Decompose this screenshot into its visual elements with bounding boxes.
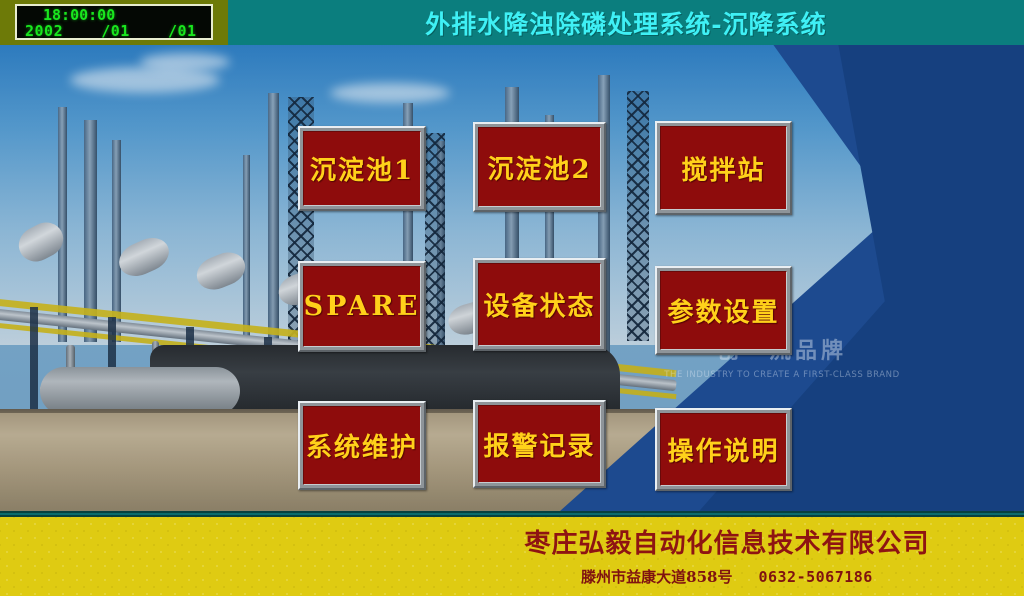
button-operating-manual[interactable]: 操作说明 — [655, 408, 792, 491]
button-face: 系统维护 — [303, 406, 421, 485]
plant-tower — [268, 93, 279, 348]
button-label: 沉淀池2 — [487, 149, 591, 186]
company-address: 滕州市益康大道858号 — [581, 566, 732, 587]
button-sedimentation-tank-1[interactable]: 沉淀池1 — [298, 126, 426, 211]
button-alarm-records[interactable]: 报警记录 — [473, 400, 606, 488]
button-face: SPARE — [303, 266, 421, 347]
button-label: 设备状态 — [483, 286, 595, 323]
button-label: SPARE — [304, 291, 421, 322]
rack-column — [30, 307, 38, 417]
footer-content: 枣庄弘毅自动化信息技术有限公司 滕州市益康大道858号 0632-5067186 — [430, 523, 1024, 587]
button-sedimentation-tank-2[interactable]: 沉淀池2 — [473, 122, 606, 212]
button-system-maintenance[interactable]: 系统维护 — [298, 401, 426, 490]
clock-panel: 18:00:00 2002 /01 /01 — [0, 0, 228, 45]
button-label: 报警记录 — [483, 426, 595, 463]
button-face: 报警记录 — [478, 405, 601, 483]
button-label: 系统维护 — [306, 427, 418, 464]
header-bar: 外排水降浊除磷处理系统-沉降系统 18:00:00 2002 /01 /01 — [0, 0, 1024, 45]
main-stage: 创一流品牌 THE INDUSTRY TO CREATE A FIRST-CLA… — [0, 45, 1024, 511]
button-equipment-status[interactable]: 设备状态 — [473, 258, 606, 351]
clock-time: 18:00:00 — [17, 6, 211, 23]
horizontal-vessel — [40, 367, 240, 415]
clock-date: 2002 /01 /01 — [17, 23, 211, 39]
company-name: 枣庄弘毅自动化信息技术有限公司 — [430, 523, 1024, 560]
plant-tower — [243, 155, 250, 345]
clock-display: 18:00:00 2002 /01 /01 — [15, 4, 213, 40]
cloud-shape — [70, 67, 220, 93]
button-face: 设备状态 — [478, 263, 601, 346]
button-parameter-settings[interactable]: 参数设置 — [655, 266, 792, 355]
footer-bar: 枣庄弘毅自动化信息技术有限公司 滕州市益康大道858号 0632-5067186 — [0, 517, 1024, 596]
button-label: 参数设置 — [667, 292, 779, 329]
hmi-screen: 外排水降浊除磷处理系统-沉降系统 18:00:00 2002 /01 /01 — [0, 0, 1024, 596]
button-label: 操作说明 — [667, 431, 779, 468]
cloud-shape — [140, 53, 230, 71]
lattice-structure — [425, 133, 445, 351]
button-face: 沉淀池1 — [303, 131, 421, 206]
contact-row: 滕州市益康大道858号 0632-5067186 — [430, 566, 1024, 587]
cloud-shape — [330, 83, 450, 103]
company-phone: 0632-5067186 — [758, 568, 872, 586]
button-spare[interactable]: SPARE — [298, 261, 426, 352]
button-label: 搅拌站 — [681, 150, 765, 187]
lattice-structure — [627, 91, 649, 341]
page-title: 外排水降浊除磷处理系统-沉降系统 — [425, 5, 826, 41]
title-band: 外排水降浊除磷处理系统-沉降系统 — [228, 0, 1024, 45]
button-face: 搅拌站 — [660, 126, 787, 210]
button-face: 操作说明 — [660, 413, 787, 486]
button-face: 沉淀池2 — [478, 127, 601, 207]
button-face: 参数设置 — [660, 271, 787, 350]
button-mixing-station[interactable]: 搅拌站 — [655, 121, 792, 215]
button-label: 沉淀池1 — [310, 150, 414, 187]
